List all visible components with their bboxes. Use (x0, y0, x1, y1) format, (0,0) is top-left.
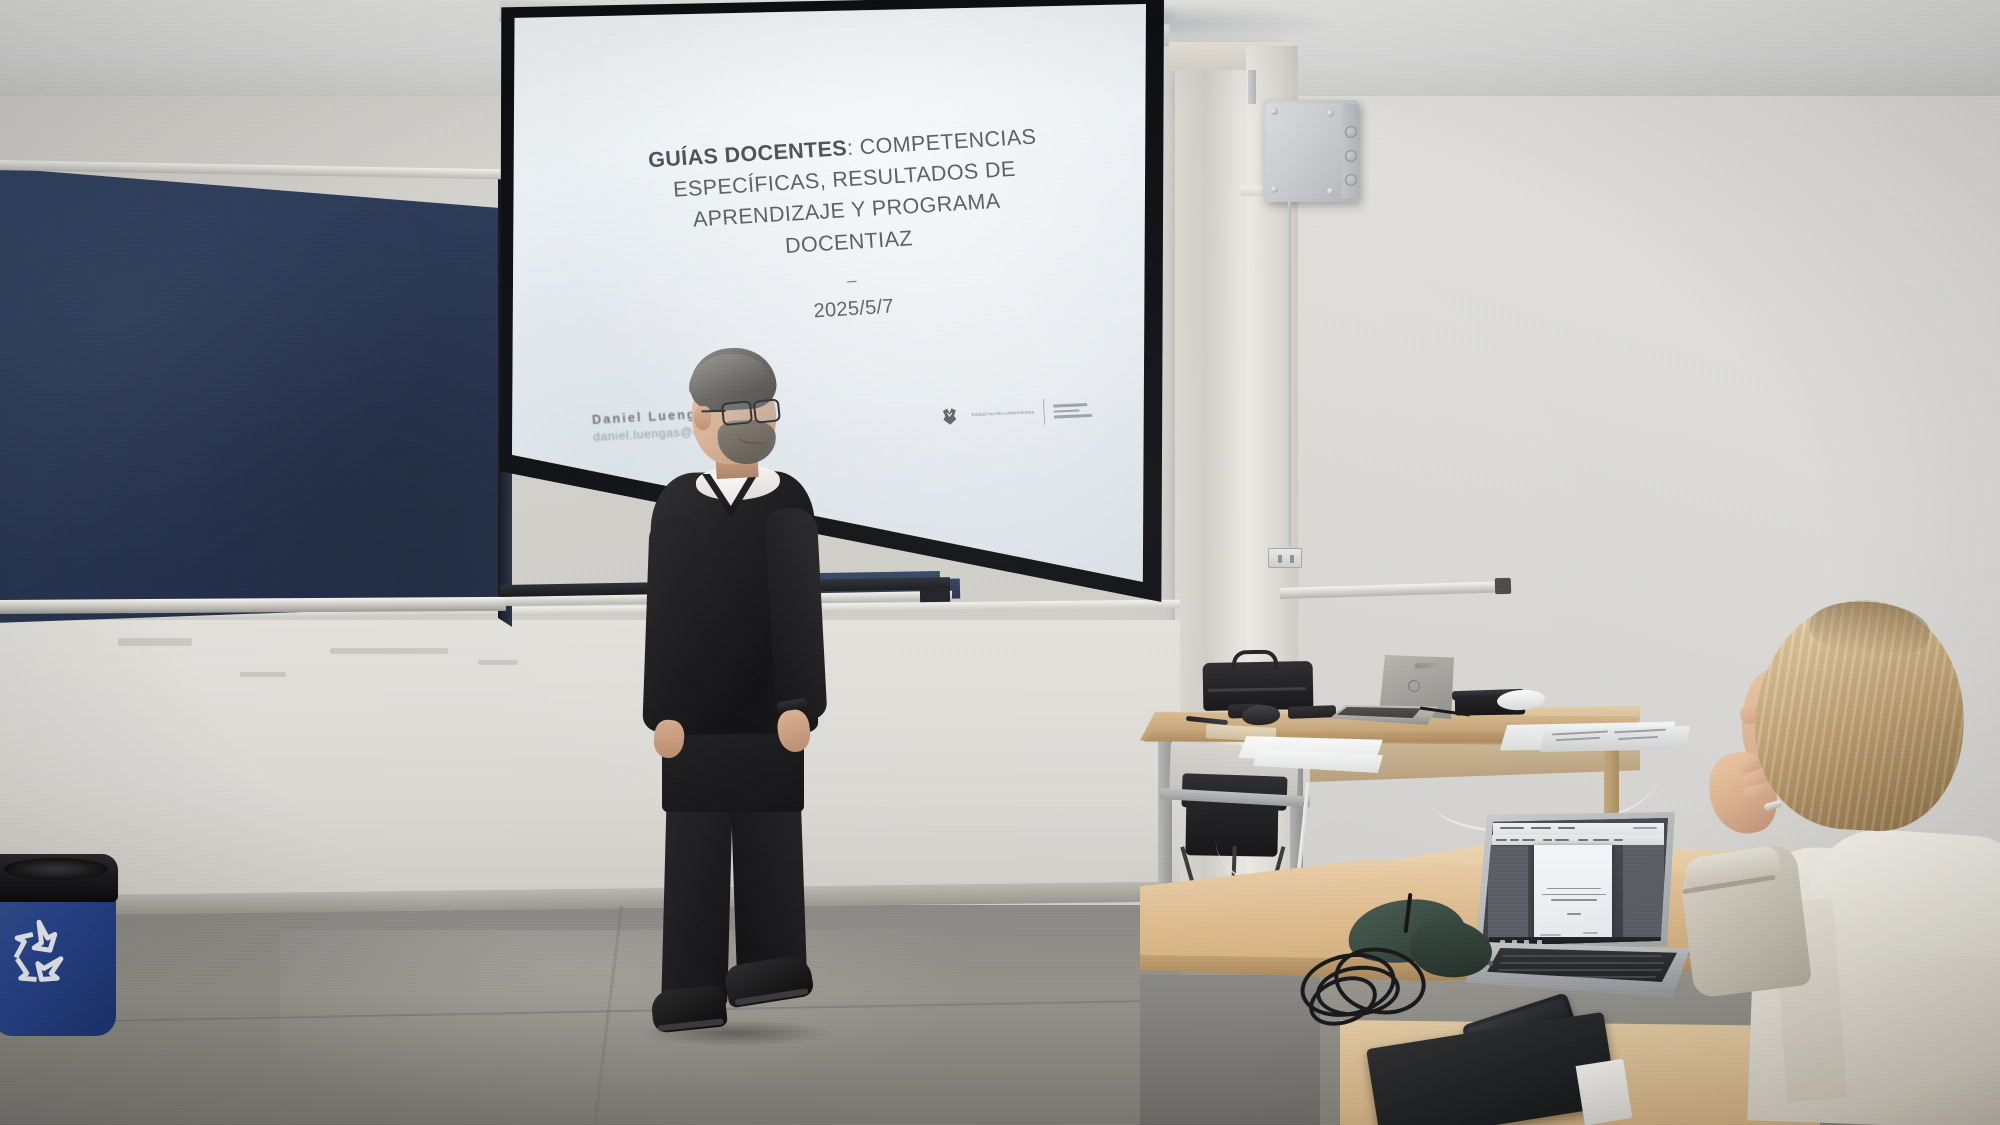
junction-box-screw-br (1327, 188, 1334, 195)
junction-box-cover (1266, 103, 1343, 199)
laptop-bag-handle (1232, 650, 1278, 671)
logo-divider (1043, 399, 1045, 425)
slide-preview-on-laptop (1534, 845, 1612, 942)
lower-wall-panel (0, 620, 1180, 920)
presenter-arm-right (764, 507, 827, 721)
classroom-photo: GUÍAS DOCENTES: COMPETENCIAS ESPECÍFICAS… (0, 0, 2000, 1125)
board-rail-end-cap (1495, 578, 1511, 594)
slide-logo-group: Euskal Herriko Unibertsitatea (935, 382, 1098, 445)
presenter-arm-left (642, 515, 700, 733)
junction-box-knockout-2 (1345, 150, 1357, 162)
junction-box-screw-bl (1271, 186, 1278, 193)
logo-caption-left: Euskal Herriko Unibertsitatea (971, 409, 1034, 418)
logo-line-2 (1053, 409, 1079, 413)
screen-bottom-weight (920, 588, 950, 603)
electrical-junction-box (1263, 100, 1359, 202)
eyeglass-temple (702, 410, 726, 413)
app-ribbon[interactable] (1491, 835, 1664, 845)
logo-caption-right-lines (1053, 403, 1092, 418)
wall-scuff-4 (478, 660, 518, 665)
wall-scuff-3 (240, 672, 286, 677)
presenter-shoe-left (650, 984, 728, 1034)
wall-scuff-1 (118, 638, 192, 646)
junction-box-screw-tl (1271, 108, 1278, 115)
junction-box-knockout-1 (1345, 126, 1357, 138)
laptop-screen[interactable] (1482, 818, 1668, 946)
eyeglass-lens-right (753, 398, 781, 424)
navy-notice-board (0, 165, 506, 623)
junction-box-knockout-3 (1345, 174, 1357, 186)
university-crest-icon (936, 403, 963, 430)
presenter-leg-left (661, 787, 733, 1009)
junction-box-screw-tr (1327, 110, 1334, 117)
board-texture (0, 165, 506, 623)
notebook-page-edges (1576, 1059, 1633, 1125)
wall-cable (1288, 202, 1291, 547)
slide-title: GUÍAS DOCENTES: COMPETENCIAS ESPECÍFICAS… (627, 120, 1065, 271)
seated-attendee (1660, 600, 2000, 1125)
desk-item-dark-2 (1288, 705, 1336, 719)
front-table-shadow (1140, 975, 1320, 1125)
wall-scuff-2 (330, 648, 448, 654)
logo-line-1 (1053, 404, 1087, 408)
app-right-pane (1623, 845, 1664, 940)
bin-opening (4, 858, 108, 880)
coiled-power-cable (1300, 948, 1460, 1040)
presenter (630, 348, 850, 1048)
app-left-pane (1488, 846, 1529, 938)
conduit-pipe (1248, 70, 1256, 104)
logo-line-3 (1053, 414, 1091, 418)
app-toolbar[interactable] (1493, 823, 1664, 835)
eyeglass-lens-left (721, 400, 753, 426)
wall-socket[interactable] (1268, 548, 1302, 568)
recycling-symbol-icon (0, 910, 78, 988)
recycling-bin (0, 854, 124, 1044)
